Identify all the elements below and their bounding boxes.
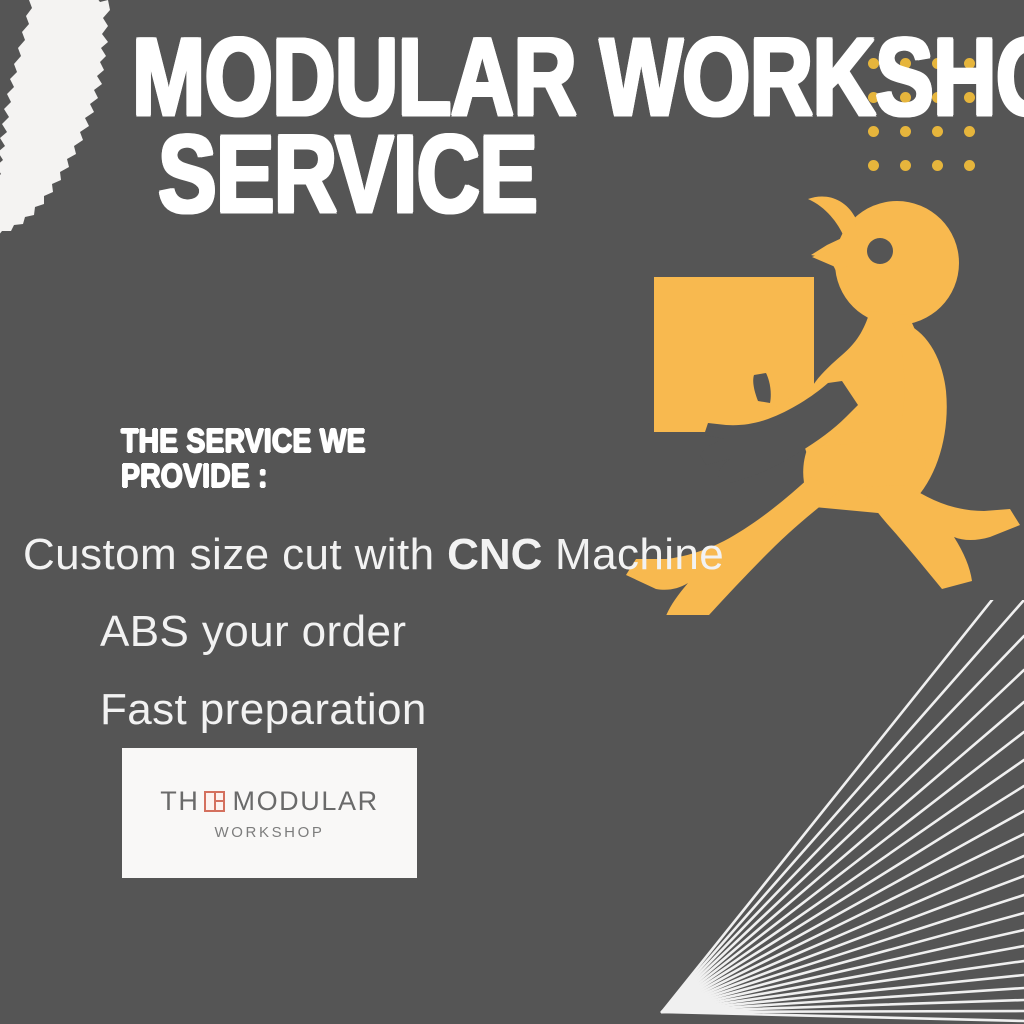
service-text-emphasis: CNC (447, 530, 542, 579)
service-text-suffix: Machine (542, 530, 724, 579)
service-text-prefix: ABS your order (100, 607, 406, 656)
service-text-prefix: Fast preparation (100, 685, 427, 734)
services-heading-line-1: THE SERVICE WE (121, 424, 405, 459)
logo-word-before: TH (160, 786, 199, 817)
logo-word-after: MODULAR (232, 786, 378, 817)
brand-logo-card: TH MODULAR WORKSHOP (122, 748, 417, 878)
logo-wordmark: TH MODULAR (160, 786, 378, 817)
window-pane-square-icon (204, 791, 225, 812)
headline-line-2: SERVICE (158, 124, 777, 225)
services-list: Custom size cut with CNC Machine ABS you… (0, 533, 700, 732)
services-heading: THE SERVICE WE PROVIDE : (121, 424, 451, 494)
service-text-prefix: Custom size cut with (23, 530, 447, 579)
services-heading-line-2: PROVIDE : (121, 459, 405, 494)
poster-canvas: MODULAR WORKSHOP SERVICE THE SERVICE WE … (0, 0, 1024, 1024)
service-item: Fast preparation (100, 688, 700, 732)
service-item: Custom size cut with CNC Machine (23, 533, 700, 577)
page-title: MODULAR WORKSHOP SERVICE (132, 27, 932, 225)
torn-paper-edge (0, 0, 140, 256)
dot (964, 160, 975, 171)
service-item: ABS your order (100, 610, 700, 654)
dot (932, 160, 943, 171)
logo-subtitle: WORKSHOP (215, 824, 325, 841)
